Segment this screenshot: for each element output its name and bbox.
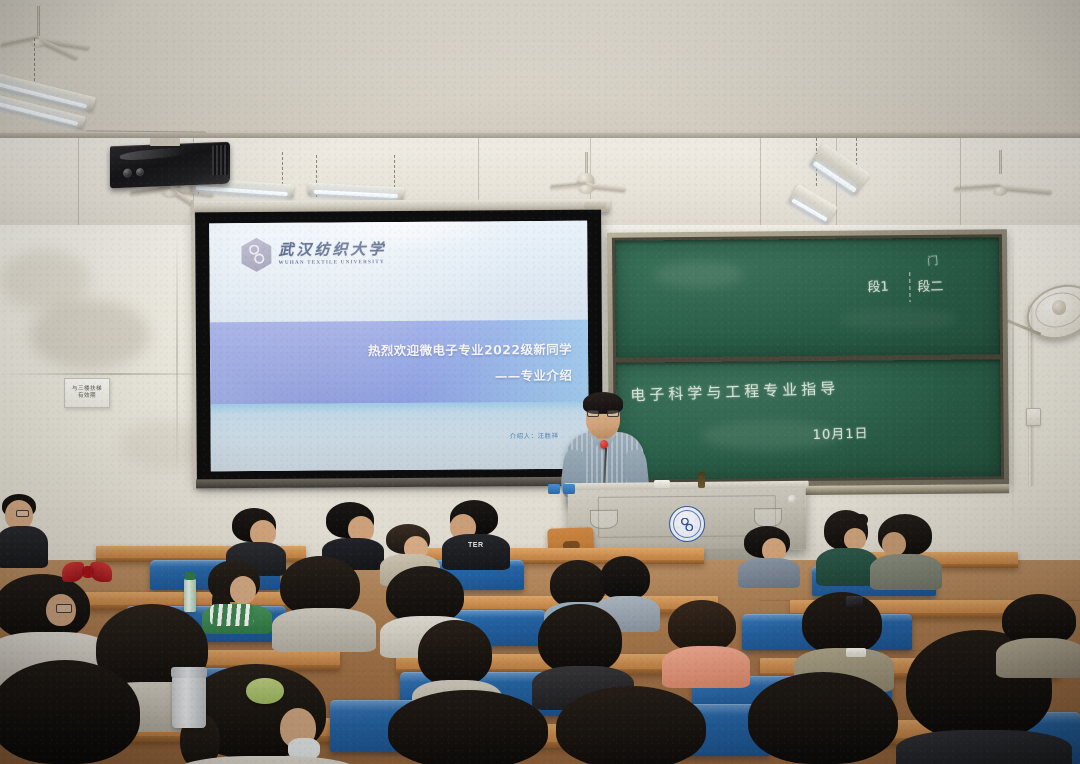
projector-lens: [123, 168, 132, 177]
podium-knob: [788, 495, 797, 504]
light-tube: [314, 190, 399, 198]
student-person: [738, 526, 800, 584]
wall-edge: [176, 225, 178, 485]
ceiling-projector-icon: [110, 142, 230, 189]
ceiling-fan: [540, 152, 632, 198]
university-logo: 武汉纺织大学 WUHAN TEXTILE UNIVERSITY: [241, 237, 386, 272]
glasses-lens: [587, 410, 599, 417]
projector-mount: [150, 138, 180, 146]
student-hair: [418, 620, 492, 686]
student-hair: [0, 660, 140, 764]
glasses-lens: [607, 410, 619, 417]
blackboard-panel-lower: 电子科学与工程专业指导 10月1日: [616, 359, 1001, 479]
projection-screen: 武汉纺织大学 WUHAN TEXTILE UNIVERSITY 热烈欢迎微电子专…: [195, 210, 603, 484]
student-hair: [748, 672, 898, 764]
screen-roller-cap: [584, 202, 606, 209]
wall-edge: [1012, 228, 1014, 528]
student-body: [0, 526, 48, 568]
slide-title-line2: ——专业介绍: [495, 364, 573, 384]
wall-panel-line: [78, 138, 79, 230]
student-hair: [668, 600, 736, 652]
wall-sign-line1: 与三楼扶梯: [72, 386, 102, 393]
blackboard-panel-upper: 门 段1 段二: [615, 237, 1000, 357]
student-ponytail: [854, 514, 868, 526]
fan-hub: [1052, 300, 1067, 314]
eyeglasses-icon: [587, 410, 619, 417]
slide-header: 武汉纺织大学 WUHAN TEXTILE UNIVERSITY: [209, 221, 588, 323]
power-socket-icon[interactable]: [1026, 408, 1041, 426]
student-head: [844, 528, 866, 550]
fan-hub: [163, 189, 177, 198]
student-body: [442, 534, 510, 570]
student-hair: [802, 592, 882, 654]
wall-stain: [0, 250, 90, 310]
fan-rod: [585, 152, 588, 174]
projector-lens: [136, 168, 144, 176]
podium-basket-right: [754, 508, 782, 527]
projector-highlight: [119, 147, 185, 162]
student-hair: [556, 686, 706, 764]
university-seal-icon: [669, 506, 705, 542]
chalk-dust: [654, 261, 744, 290]
student-hair: [280, 556, 360, 616]
student-body: [662, 646, 750, 688]
student-person: [664, 600, 748, 684]
student-person: [276, 556, 372, 646]
student-person: [818, 510, 876, 582]
student-body: [816, 548, 878, 586]
bow-knot: [82, 566, 94, 578]
student-hair: [388, 690, 548, 764]
blackboard-chalk-corner: 门: [927, 252, 939, 269]
slide-title-band: 热烈欢迎微电子专业2022级新同学 ——专业介绍: [210, 320, 589, 404]
fan-hub: [993, 187, 1007, 196]
student-hair: [538, 604, 622, 674]
student-person: [384, 690, 564, 764]
podium-top-surface: [565, 481, 809, 491]
thermos-cap[interactable]: [171, 667, 207, 678]
university-name-cn: 武汉纺织大学: [278, 242, 386, 258]
blackboard: 门 段1 段二 电子科学与工程专业指导 10月1日: [607, 229, 1009, 487]
bow-left-loop: [62, 562, 84, 582]
water-bottle[interactable]: [184, 578, 196, 612]
green-scrunchie: [246, 678, 284, 704]
red-hair-bow: [62, 558, 114, 586]
student-body: [272, 608, 376, 652]
glasses-lens: [16, 510, 29, 517]
podium-item-eraser[interactable]: [654, 480, 670, 488]
ceiling-fan: [940, 150, 1060, 200]
fluorescent-light: [790, 182, 846, 216]
light-housing: [308, 182, 404, 199]
student-person: [552, 686, 722, 764]
blackboard-chalk-topic: 电子科学与工程专业指导: [630, 377, 840, 405]
desk-eraser[interactable]: [846, 648, 866, 657]
blackboard-chalk-group1: 段1: [867, 276, 889, 296]
classroom-photo: 与三楼扶梯 有效期 武汉纺织大学 WUHAN TEXTILE U: [0, 0, 1080, 764]
fluorescent-light: [0, 38, 120, 98]
blackboard-chalk-date: 10月1日: [812, 423, 868, 443]
student-head: [230, 576, 256, 604]
student-hair: [600, 556, 650, 600]
podium-basket-left: [590, 510, 618, 529]
chalk-box[interactable]: [548, 484, 560, 494]
fan-rod: [37, 6, 40, 36]
student-body: [996, 638, 1080, 678]
glasses-lens: [56, 604, 72, 613]
blackboard-chalk-group2: 段二: [917, 275, 944, 295]
slide-presenter-credit: 介绍人：汪胜祥: [510, 431, 559, 440]
screen-surface: 武汉纺织大学 WUHAN TEXTILE UNIVERSITY 热烈欢迎微电子专…: [209, 221, 589, 472]
podium-item-bottle[interactable]: [698, 472, 705, 488]
mobile-phone[interactable]: [846, 596, 863, 607]
logo-text-block: 武汉纺织大学 WUHAN TEXTILE UNIVERSITY: [278, 242, 386, 266]
slide-footer: 介绍人：汪胜祥: [210, 402, 588, 472]
student-body: [870, 554, 942, 590]
hexagon-university-emblem-icon: [241, 238, 271, 272]
fan-rod: [999, 150, 1002, 174]
thermos-flask[interactable]: [172, 676, 206, 728]
fluorescent-light: [306, 155, 406, 197]
student-body: [896, 730, 1072, 764]
student-person: [872, 514, 940, 586]
university-name-en: WUHAN TEXTILE UNIVERSITY: [279, 260, 387, 266]
chalk-box[interactable]: [563, 484, 575, 494]
student-body: [738, 558, 800, 588]
presentation-slide: 武汉纺织大学 WUHAN TEXTILE UNIVERSITY 热烈欢迎微电子专…: [209, 221, 589, 472]
fan-blade: [1000, 185, 1052, 195]
wall-mounted-fan-icon: [1026, 286, 1080, 334]
wall-panel-line: [760, 138, 761, 230]
shirt-graphic: TER: [468, 542, 484, 549]
student-person: [0, 660, 166, 764]
fan-hub: [579, 185, 593, 194]
student-head: [882, 532, 906, 556]
glasses-bridge: [599, 413, 607, 414]
chalk-dust: [838, 308, 958, 331]
student-person: [0, 494, 46, 564]
student-person: TER: [444, 500, 510, 568]
ceiling-surface: [0, 0, 1080, 140]
chalk-divider: [909, 272, 910, 302]
blackboard-inner-frame: 门 段1 段二 电子科学与工程专业指导 10月1日: [612, 234, 1004, 482]
wall-stain: [30, 300, 150, 370]
student-person: [744, 672, 914, 764]
slide-title-line1: 热烈欢迎微电子专业2022级新同学: [368, 338, 572, 358]
bottle-cap[interactable]: [185, 572, 195, 580]
projector-vent: [212, 145, 228, 176]
student-person: [998, 594, 1080, 674]
wall-sign-line2: 有效期: [78, 393, 96, 400]
wall-notice-sign: 与三楼扶梯 有效期: [64, 378, 110, 408]
